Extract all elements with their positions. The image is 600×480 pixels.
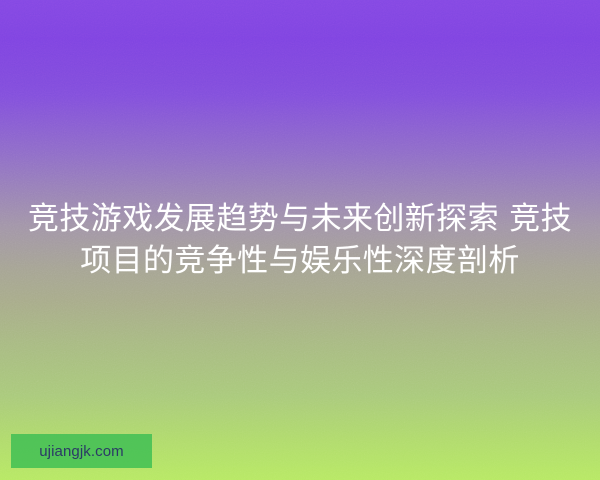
watermark-label: ujiangjk.com [39, 444, 124, 459]
page-title: 竞技游戏发展趋势与未来创新探索 竞技项目的竞争性与娱乐性深度剖析 [24, 198, 576, 282]
title-block: 竞技游戏发展趋势与未来创新探索 竞技项目的竞争性与娱乐性深度剖析 [0, 198, 600, 282]
watermark-badge: ujiangjk.com [11, 434, 152, 468]
banner-image: 竞技游戏发展趋势与未来创新探索 竞技项目的竞争性与娱乐性深度剖析 ujiangj… [0, 0, 600, 480]
